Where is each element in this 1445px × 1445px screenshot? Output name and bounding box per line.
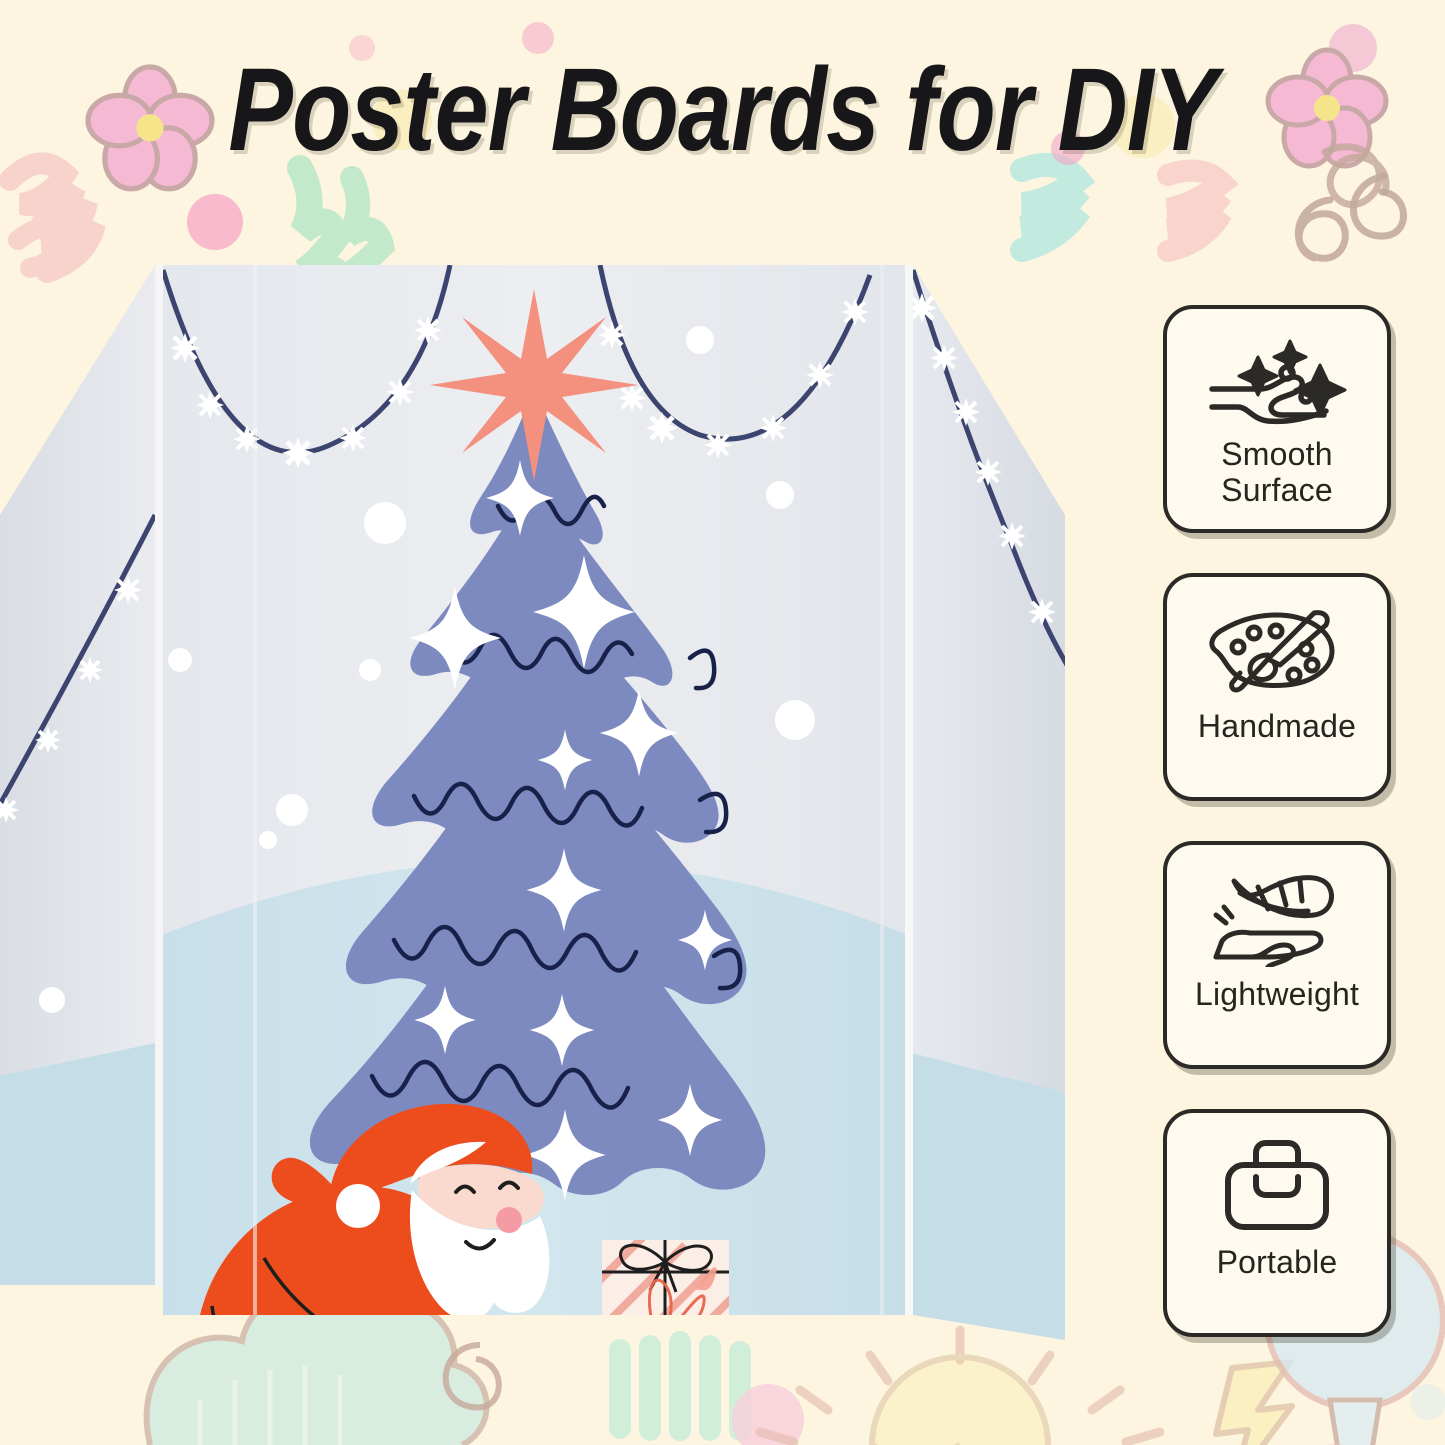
right-wing-panel xyxy=(900,265,1075,1340)
yellow-sun-rays-doodle xyxy=(760,1330,1160,1445)
brown-loop-squiggle-doodle xyxy=(1298,176,1403,258)
feature-badge-label: Lightweight xyxy=(1195,977,1359,1013)
snowflake-dot xyxy=(39,987,65,1013)
feature-badge-label: Portable xyxy=(1217,1245,1338,1281)
feature-badge-handmade[interactable]: Handmade xyxy=(1163,573,1391,801)
mint-scribble-doodle xyxy=(620,1342,740,1430)
feature-badge-label: Smooth Surface xyxy=(1221,437,1333,509)
left-wing-panel xyxy=(0,265,170,1300)
pink-dot-doodle xyxy=(732,1384,804,1445)
yellow-lightning-doodle xyxy=(1216,1362,1292,1445)
paint-palette-brush-icon xyxy=(1202,603,1352,699)
feature-badge-portable[interactable]: Portable xyxy=(1163,1109,1391,1337)
briefcase-icon xyxy=(1202,1139,1352,1235)
pink-dot-doodle xyxy=(1329,24,1377,72)
page-title: Poster Boards for DIY xyxy=(130,42,1315,178)
feather-on-hand-icon xyxy=(1202,871,1352,967)
feature-badge-smooth-surface[interactable]: Smooth Surface xyxy=(1163,305,1391,533)
brown-loop-squiggle-doodle xyxy=(1325,147,1386,205)
product-image-trifold-board xyxy=(0,240,1130,1340)
poster-listing-image: Poster Boards for DIY xyxy=(0,0,1445,1445)
hat-pompom xyxy=(336,1184,380,1228)
pink-scribble-doodle xyxy=(1168,171,1222,252)
feature-badge-label: Handmade xyxy=(1198,709,1356,745)
santa-nose xyxy=(496,1207,522,1233)
feature-badge-lightweight[interactable]: Lightweight xyxy=(1163,841,1391,1069)
brown-loop-squiggle-doodle xyxy=(446,1345,499,1407)
feature-badge-list: Smooth Surface Handmade xyxy=(1163,305,1391,1337)
center-panel xyxy=(115,265,920,1340)
hand-sparkle-icon xyxy=(1202,335,1352,431)
